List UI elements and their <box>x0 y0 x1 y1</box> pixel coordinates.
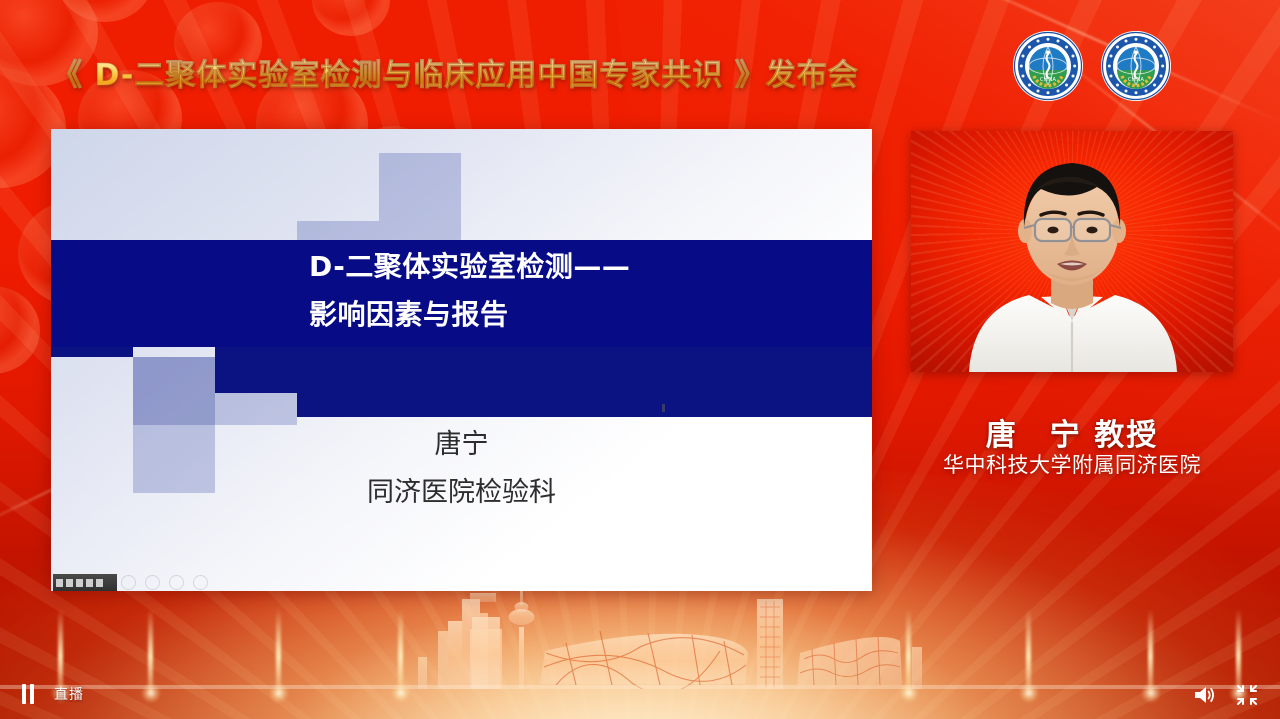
pause-button[interactable] <box>22 684 34 704</box>
ppt-toolbar-ghost-icons[interactable] <box>121 575 208 590</box>
light-pillar <box>1148 609 1153 695</box>
event-title: 《 D-二聚体实验室检测与临床应用中国专家共识 》发布会 <box>52 50 859 94</box>
slide-decor-square <box>379 153 461 221</box>
light-pillar <box>58 609 63 695</box>
light-pillar <box>398 609 403 695</box>
china-medical-association-logo: CHINA <box>1100 30 1172 102</box>
pen-icon[interactable] <box>121 575 136 590</box>
light-pillar <box>1236 609 1241 695</box>
speaker-video-feed[interactable] <box>911 131 1233 372</box>
slide-presenter-affiliation: 同济医院检验科 <box>51 470 872 509</box>
slide-title-band-extension <box>297 393 872 417</box>
zoom-icon[interactable] <box>169 575 184 590</box>
svg-text:CHINA: CHINA <box>1040 77 1056 83</box>
slide-title: D-二聚体实验室检测—— 影响因素与报告 <box>309 243 869 339</box>
organizer-logos: CHINA <box>1012 30 1172 102</box>
slide-decor-square <box>133 357 215 425</box>
more-icon[interactable] <box>193 575 208 590</box>
grid-icon[interactable] <box>145 575 160 590</box>
light-pillar <box>276 609 281 695</box>
player-controls-right <box>1192 684 1258 706</box>
volume-icon[interactable] <box>1192 684 1216 706</box>
slide-presenter-name: 唐宁 <box>51 419 872 470</box>
player-controls-left: 直播 <box>22 684 84 704</box>
ppt-presenter-toolbar[interactable] <box>53 574 117 591</box>
speaker-affiliation-caption: 华中科技大学附属同济医院 <box>911 449 1233 479</box>
live-status-label: 直播 <box>54 684 84 704</box>
exit-fullscreen-icon[interactable] <box>1236 684 1258 706</box>
china-medical-association-logo: CHINA <box>1012 30 1084 102</box>
mouse-cursor <box>662 404 665 412</box>
live-broadcast-stage: 《 D-二聚体实验室检测与临床应用中国专家共识 》发布会 CHINA <box>0 0 1280 719</box>
speaker-portrait <box>911 131 1233 372</box>
light-pillar <box>906 609 911 695</box>
light-pillar <box>148 609 153 695</box>
presentation-slide[interactable]: D-二聚体实验室检测—— 影响因素与报告 唐宁 同济医院检验科 <box>51 129 872 591</box>
light-pillar <box>1026 609 1031 695</box>
slide-title-band-extension <box>215 347 872 393</box>
speaker-name-caption: 唐 宁 教授 <box>911 410 1233 454</box>
svg-text:CHINA: CHINA <box>1128 77 1144 83</box>
